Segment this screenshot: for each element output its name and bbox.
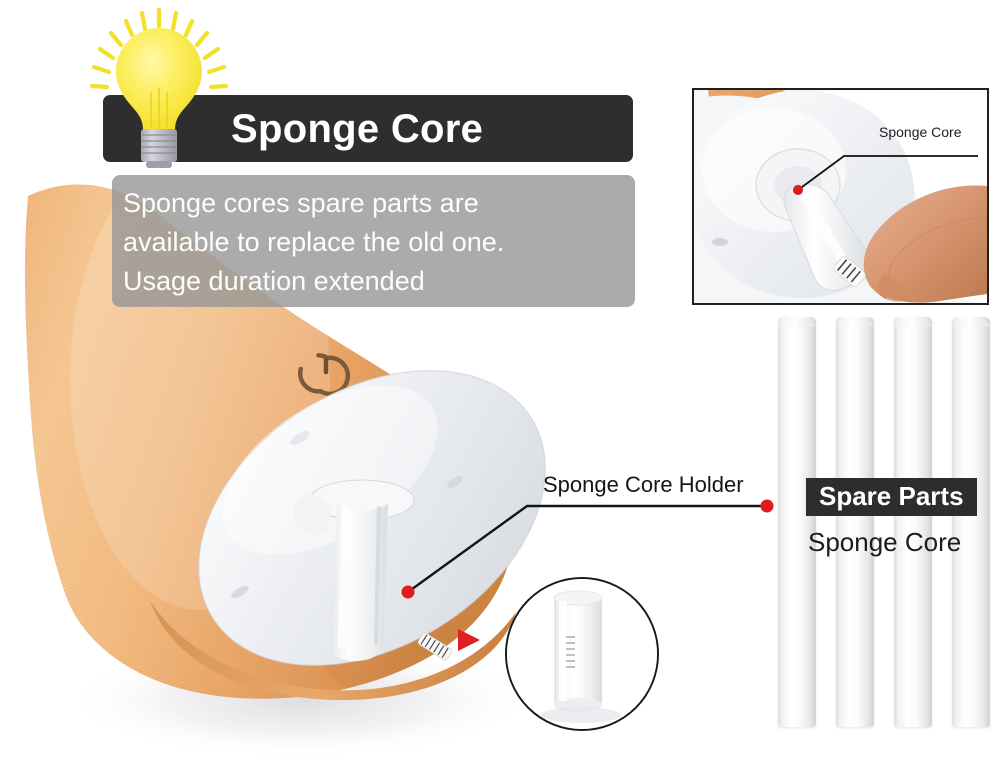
stick-cap (836, 317, 874, 327)
sponge-core-holder-label: Sponge Core Holder (543, 472, 744, 498)
sponge-core-stick (836, 317, 874, 727)
spare-parts-badge: Spare Parts (806, 478, 977, 516)
description-box: Sponge cores spare parts are available t… (112, 175, 635, 307)
sponge-core-stick (894, 317, 932, 727)
inset-photo-sponge-core: Sponge Core (692, 88, 989, 305)
sponge-core-holder-stem (294, 465, 453, 661)
description-line-3: Usage duration extended (123, 262, 635, 301)
sponge-core-stick (778, 317, 816, 727)
stick-cap (952, 317, 990, 327)
inset-photo-graphic (694, 90, 987, 303)
description-line-2: available to replace the old one. (123, 223, 635, 262)
infographic-canvas: Sponge Core Sponge cores spare parts are… (0, 0, 1000, 775)
sponge-core-stick (952, 317, 990, 727)
description-line-1: Sponge cores spare parts are (123, 184, 635, 223)
circle-inset-closeup (505, 577, 659, 731)
page-title: Sponge Core (231, 109, 483, 149)
spare-parts-sticks (778, 317, 992, 727)
red-arrow-left-icon (458, 629, 480, 651)
inset-caption: Sponge Core (879, 124, 962, 140)
stick-cap (894, 317, 932, 327)
power-icon (297, 352, 351, 397)
sponge-core-tip (417, 632, 453, 661)
spare-parts-subtitle: Sponge Core (808, 527, 961, 558)
product-shadow (65, 640, 535, 760)
base-rim (150, 600, 516, 700)
circle-inset-graphic (507, 579, 657, 729)
light-bulb-icon (84, 4, 234, 172)
stick-cap (778, 317, 816, 327)
